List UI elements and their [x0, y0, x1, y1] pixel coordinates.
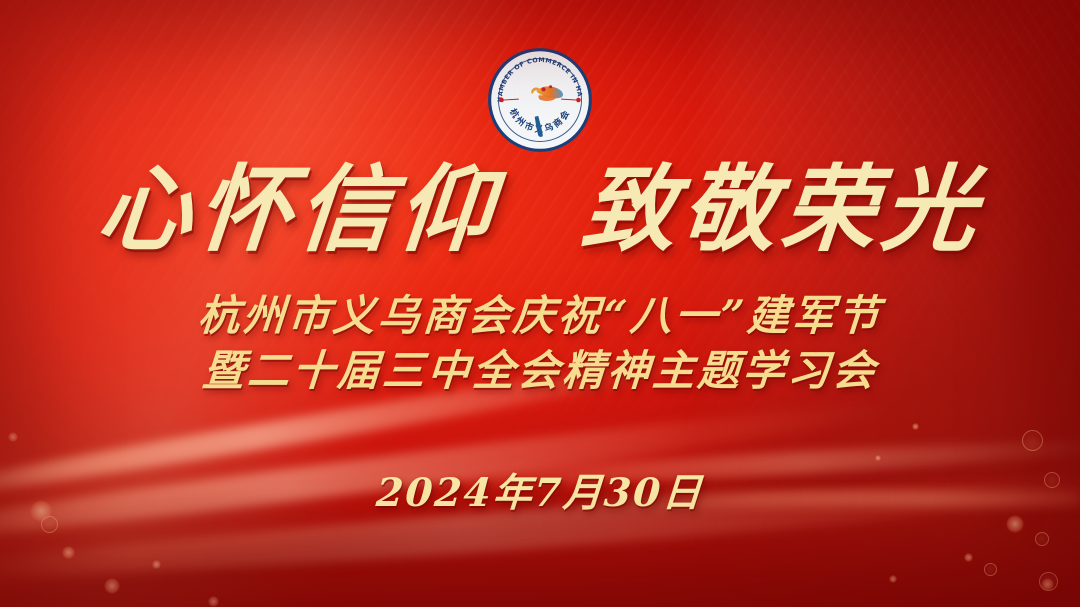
chamber-of-commerce-logo: YIWU CHAMBER OF COMMERCE IN HANGZHOU 杭州市… — [487, 47, 593, 153]
subtitle-line-1: 杭州市义乌商会庆祝“八一”建军节 — [0, 288, 1080, 343]
headline-left: 心怀信仰 — [94, 163, 502, 257]
headline: 心怀信仰 致敬荣光 — [0, 163, 1080, 257]
subtitle-line-2: 暨二十届三中全会精神主题学习会 — [0, 343, 1080, 398]
subtitle: 杭州市义乌商会庆祝“八一”建军节 暨二十届三中全会精神主题学习会 — [0, 288, 1080, 399]
headline-right: 致敬荣光 — [578, 163, 986, 257]
event-date: 2024年7月30日 — [0, 462, 1080, 518]
event-banner-poster: YIWU CHAMBER OF COMMERCE IN HANGZHOU 杭州市… — [0, 0, 1080, 607]
